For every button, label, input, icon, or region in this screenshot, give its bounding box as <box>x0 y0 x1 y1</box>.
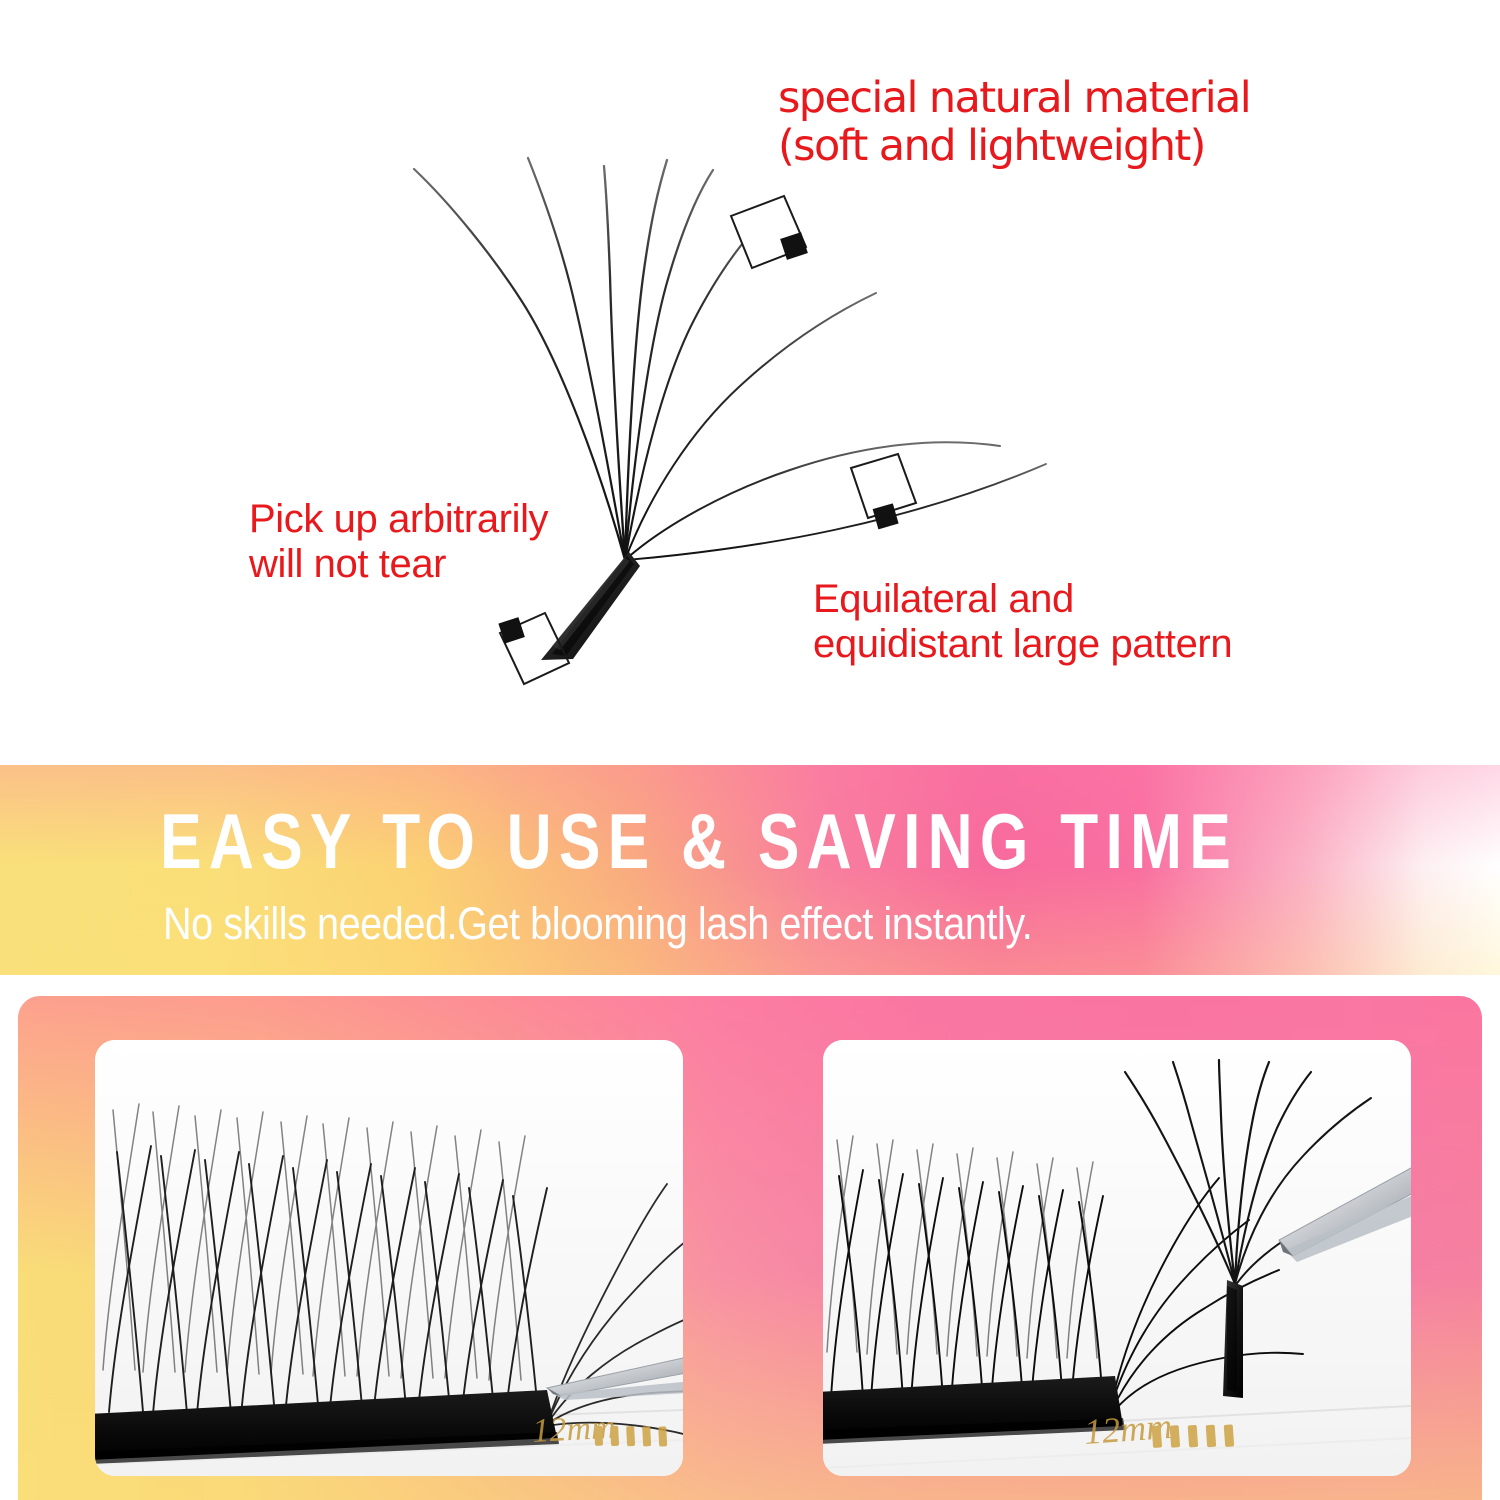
photo-card-fan-pickup[interactable]: 12mm <box>823 1040 1411 1476</box>
callout-pick-up-arbitrarily: Pick up arbitrarily will not tear <box>249 497 548 587</box>
lash-fan-base <box>541 552 640 660</box>
callout-equilateral-pattern: Equilateral and equidistant large patter… <box>813 577 1232 667</box>
dimension-marker-middle <box>851 454 916 529</box>
hero-section: special natural material (soft and light… <box>0 0 1500 765</box>
gallery-panel: 12mm <box>18 996 1482 1500</box>
dimension-marker-upper <box>731 196 808 268</box>
svg-text:12mm: 12mm <box>531 1409 616 1450</box>
photo-card-lash-strip-tweezers[interactable]: 12mm <box>95 1040 683 1476</box>
photo-fan-pickup: 12mm <box>823 1040 1411 1476</box>
callout-special-natural-material: special natural material (soft and light… <box>778 74 1250 170</box>
banner-headline: EASY TO USE & SAVING TIME <box>160 802 1120 880</box>
photo-lash-strip: 12mm <box>95 1040 683 1476</box>
banner-subheadline: No skills needed.Get blooming lash effec… <box>163 901 1263 946</box>
lash-fan-illustration <box>0 0 1500 765</box>
